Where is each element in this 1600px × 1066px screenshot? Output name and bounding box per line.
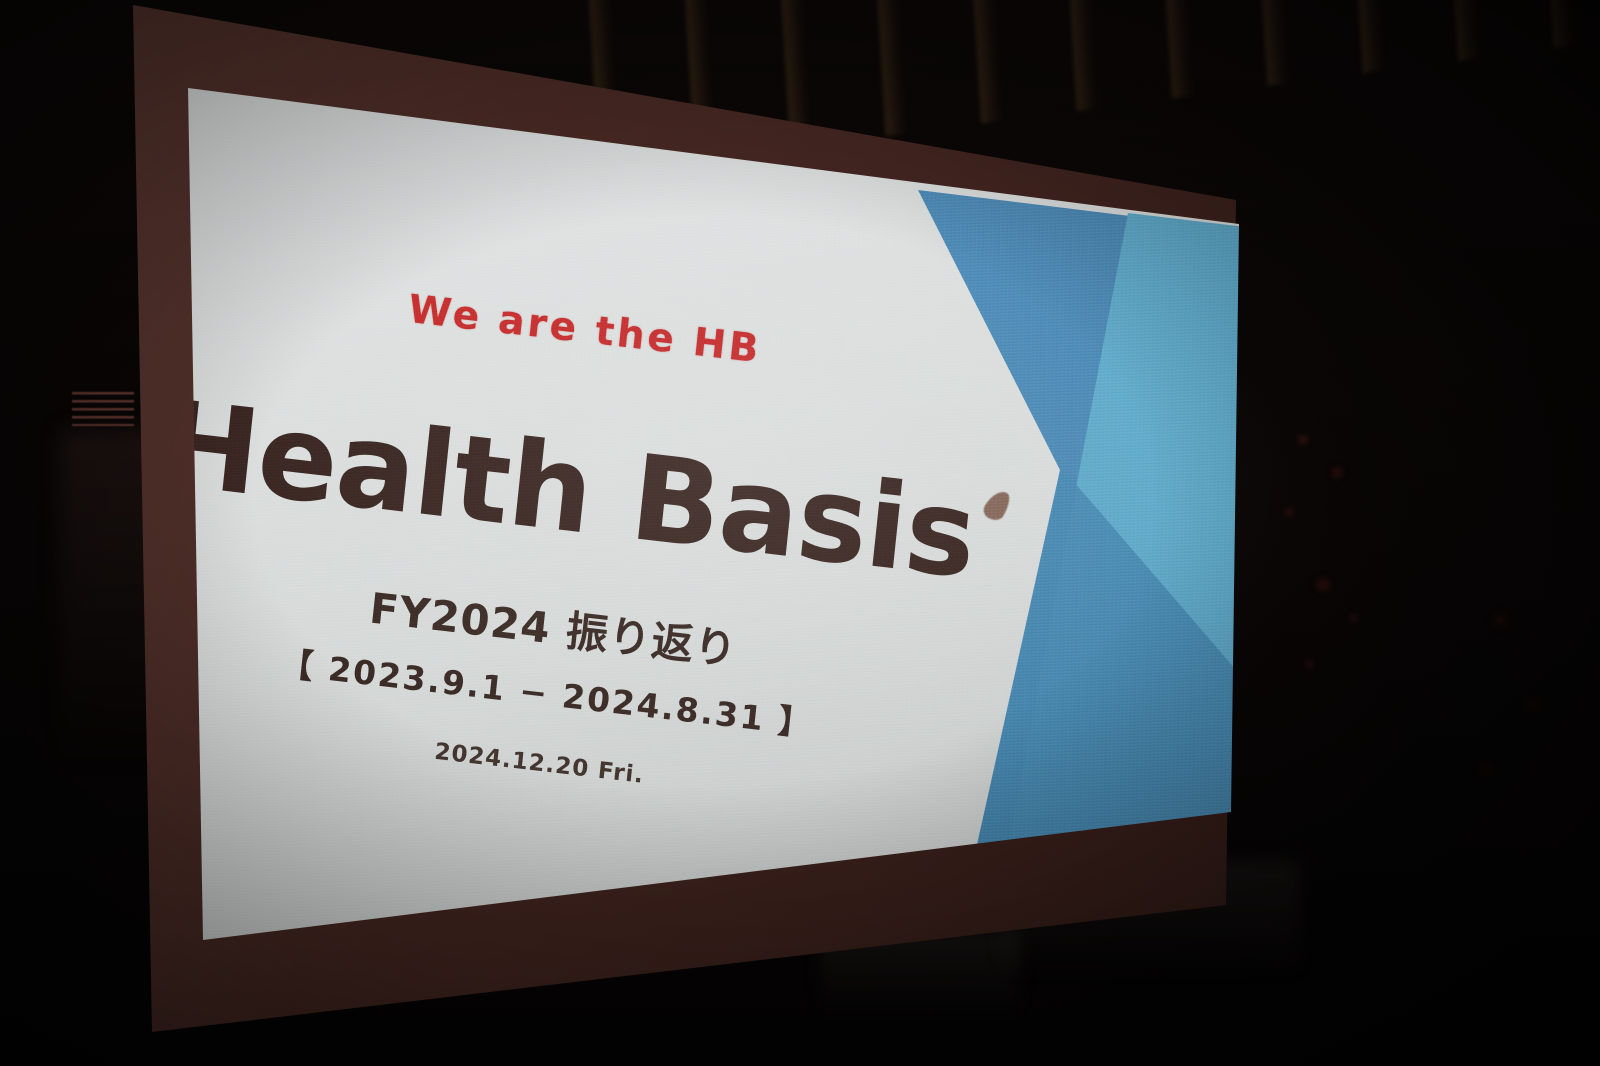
slide-tagline: We are the HB [165, 259, 1004, 400]
presentation-photo-scene: We are the HB Health Basis FY2024 振り返り 【… [0, 0, 1600, 1066]
projector-screen: We are the HB Health Basis FY2024 振り返り 【… [0, 0, 1600, 1066]
